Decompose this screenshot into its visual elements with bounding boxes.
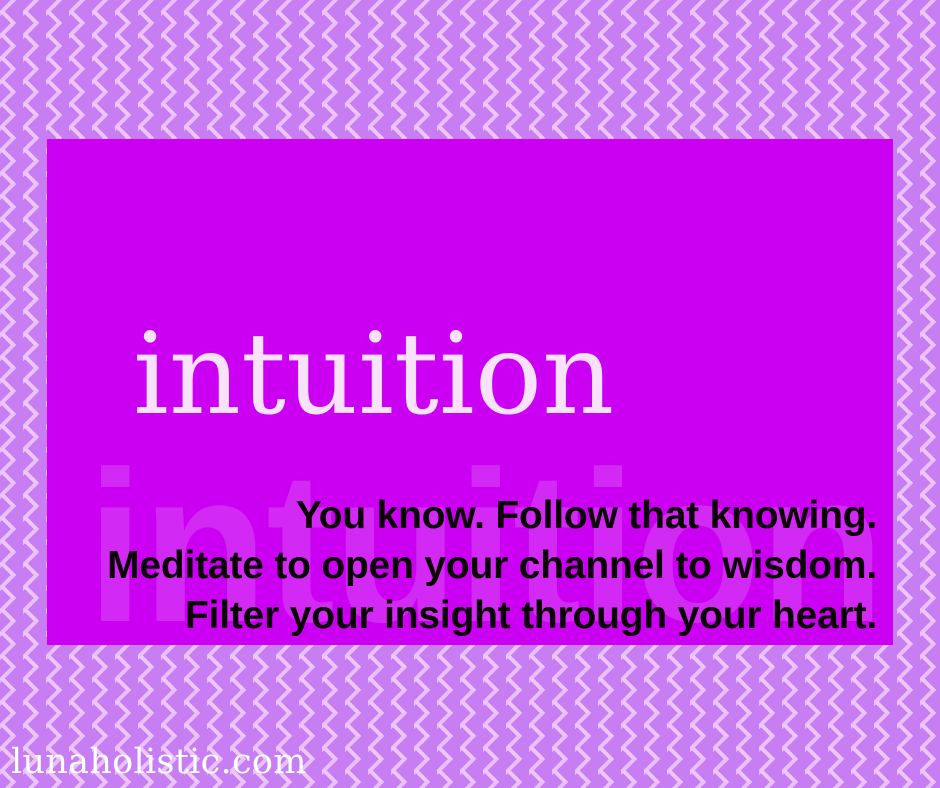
poster-canvas: intuition intuition You know. Follow tha…	[0, 0, 940, 788]
site-credit: lunaholistic.com	[11, 745, 307, 780]
quote-line-1: You know. Follow that knowing.	[97, 491, 877, 541]
page-title: intuition	[133, 317, 614, 435]
quote-card: intuition intuition You know. Follow tha…	[47, 139, 893, 645]
quote-body: You know. Follow that knowing. Meditate …	[97, 491, 877, 641]
quote-line-3: Filter your insight through your heart.	[97, 591, 877, 641]
quote-line-2: Meditate to open your channel to wisdom.	[97, 541, 877, 591]
